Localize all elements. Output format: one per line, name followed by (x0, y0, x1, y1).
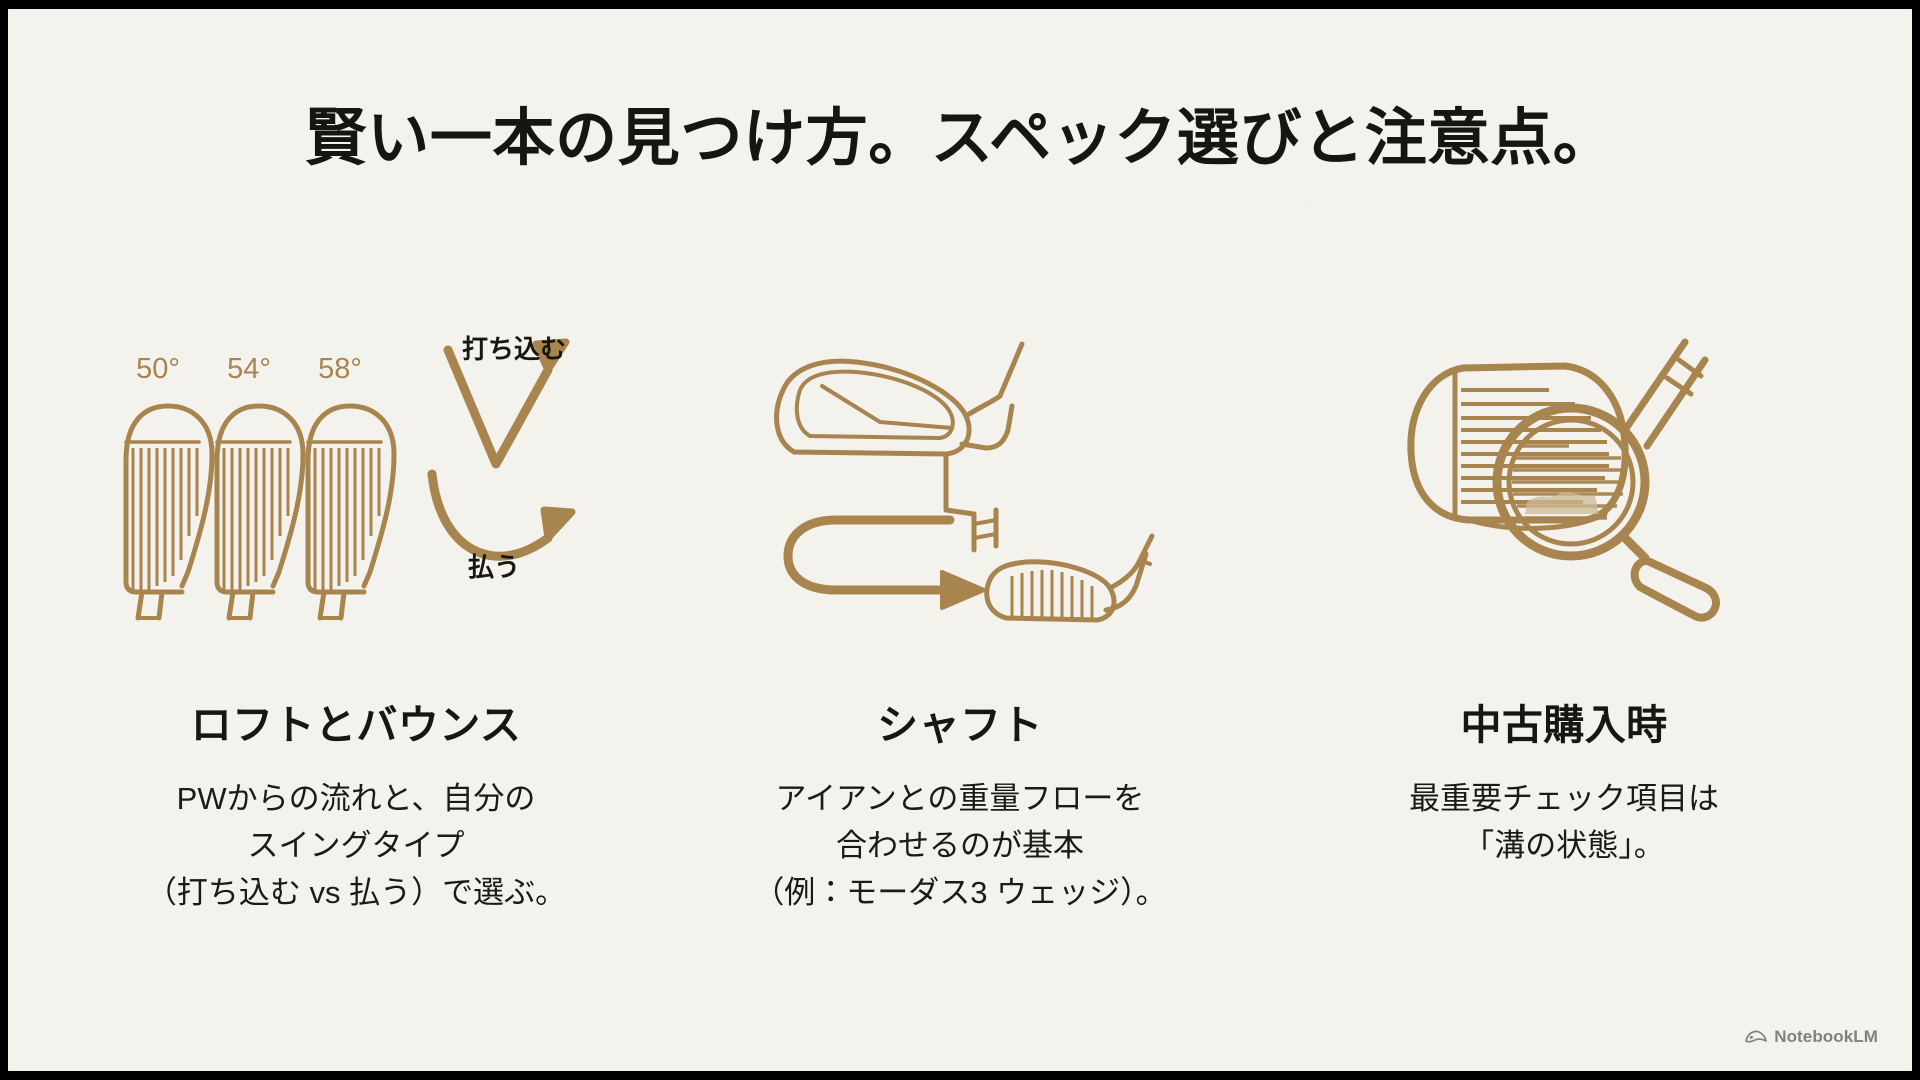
notebooklm-logo-icon (1745, 1029, 1767, 1045)
column-loft-bounce: 50° 54° 58° (56, 309, 656, 916)
column-heading-shaft: シャフト (877, 691, 1043, 751)
column-heading-used-purchase: 中古購入時 (1460, 691, 1667, 751)
iron-to-wedge-weight-flow-icon (760, 324, 1160, 624)
body-line: 合わせるのが基本 (753, 822, 1166, 869)
body-line: 最重要チェック項目は (1409, 775, 1719, 822)
column-body-loft-bounce: PWからの流れと、自分の スイングタイプ （打ち込む vs 払う）で選ぶ。 (146, 775, 566, 916)
magnifier-neck (1623, 536, 1645, 558)
icon-shaft (680, 309, 1240, 639)
magnifier-handle (1635, 561, 1716, 618)
body-line: スイングタイプ (146, 822, 566, 869)
wedge-lofts-and-swing-arrows-icon: 50° 54° 58° (96, 324, 616, 624)
columns-container: 50° 54° 58° (8, 309, 1912, 916)
column-shaft: シャフト アイアンとの重量フローを 合わせるのが基本 （例：モーダス3 ウェッジ… (660, 309, 1260, 916)
wedge-head-2 (308, 406, 394, 618)
swing-label-sweep: 払う (468, 552, 520, 582)
slide-root: 賢い一本の見つけ方。スペック選びと注意点。 50° 54° 58° (0, 0, 1920, 1080)
wedge-head-1 (217, 406, 303, 618)
icon-used-purchase (1284, 309, 1844, 639)
wedge-head-lower (987, 536, 1152, 620)
magnifier-on-wedge-grooves-icon (1399, 324, 1729, 624)
slide-canvas: 賢い一本の見つけ方。スペック選びと注意点。 50° 54° 58° (8, 9, 1912, 1071)
page-title: 賢い一本の見つけ方。スペック選びと注意点。 (8, 87, 1912, 177)
loft-label-2: 58° (318, 353, 362, 385)
column-heading-loft-bounce: ロフトとバウンス (191, 691, 521, 751)
body-line: PWからの流れと、自分の (146, 775, 566, 822)
watermark: NotebookLM (1745, 1027, 1878, 1047)
wedge-head-0 (126, 406, 212, 618)
body-line: （例：モーダス3 ウェッジ）。 (753, 869, 1166, 916)
column-used-purchase: 中古購入時 最重要チェック項目は 「溝の状態」。 (1264, 309, 1864, 869)
watermark-label: NotebookLM (1774, 1027, 1878, 1047)
column-body-shaft: アイアンとの重量フローを 合わせるのが基本 （例：モーダス3 ウェッジ）。 (753, 775, 1166, 916)
letterbox-top (0, 0, 1920, 9)
letterbox-right (1912, 0, 1920, 1080)
body-line: アイアンとの重量フローを (753, 775, 1166, 822)
column-body-used-purchase: 最重要チェック項目は 「溝の状態」。 (1409, 775, 1719, 869)
body-line: 「溝の状態」。 (1409, 822, 1719, 869)
letterbox-bottom (0, 1071, 1920, 1080)
arrowhead-flow-right (942, 572, 984, 608)
arrowhead-sweep-up-right (544, 510, 572, 538)
loft-label-0: 50° (136, 353, 180, 385)
swing-label-hit-down: 打ち込む (462, 334, 566, 364)
letterbox-left (0, 0, 8, 1080)
body-line: （打ち込む vs 払う）で選ぶ。 (146, 869, 566, 916)
weight-flow-arrow (788, 520, 984, 608)
icon-loft-bounce: 50° 54° 58° (76, 309, 636, 639)
swing-arrow-sweep (432, 474, 572, 556)
loft-label-1: 54° (227, 353, 271, 385)
